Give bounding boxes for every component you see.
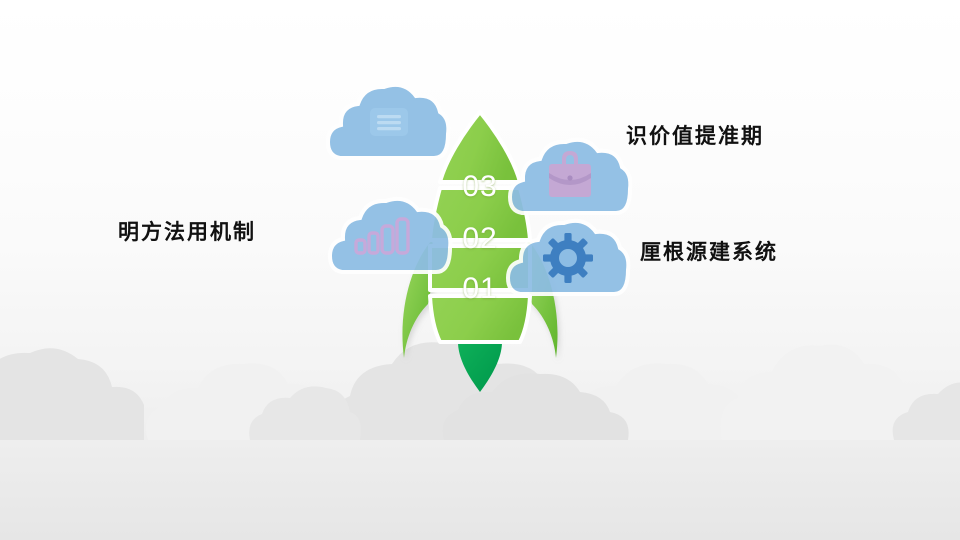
rocket-stage-01 xyxy=(430,296,530,342)
label-middle-left: 明方法用机制 xyxy=(118,216,256,246)
document-lines-icon xyxy=(370,108,408,136)
label-bottom-right: 厘根源建系统 xyxy=(640,236,778,266)
cloud-barchart[interactable] xyxy=(328,192,452,274)
cloud-briefcase[interactable] xyxy=(508,133,632,215)
slide-canvas: 03 02 01 xyxy=(0,0,960,540)
gear-icon xyxy=(543,233,593,283)
background-cloud xyxy=(892,380,960,440)
label-top-right: 识价值提准期 xyxy=(626,120,764,150)
cloud-gear[interactable] xyxy=(506,214,630,296)
cloud-document[interactable] xyxy=(326,78,450,160)
